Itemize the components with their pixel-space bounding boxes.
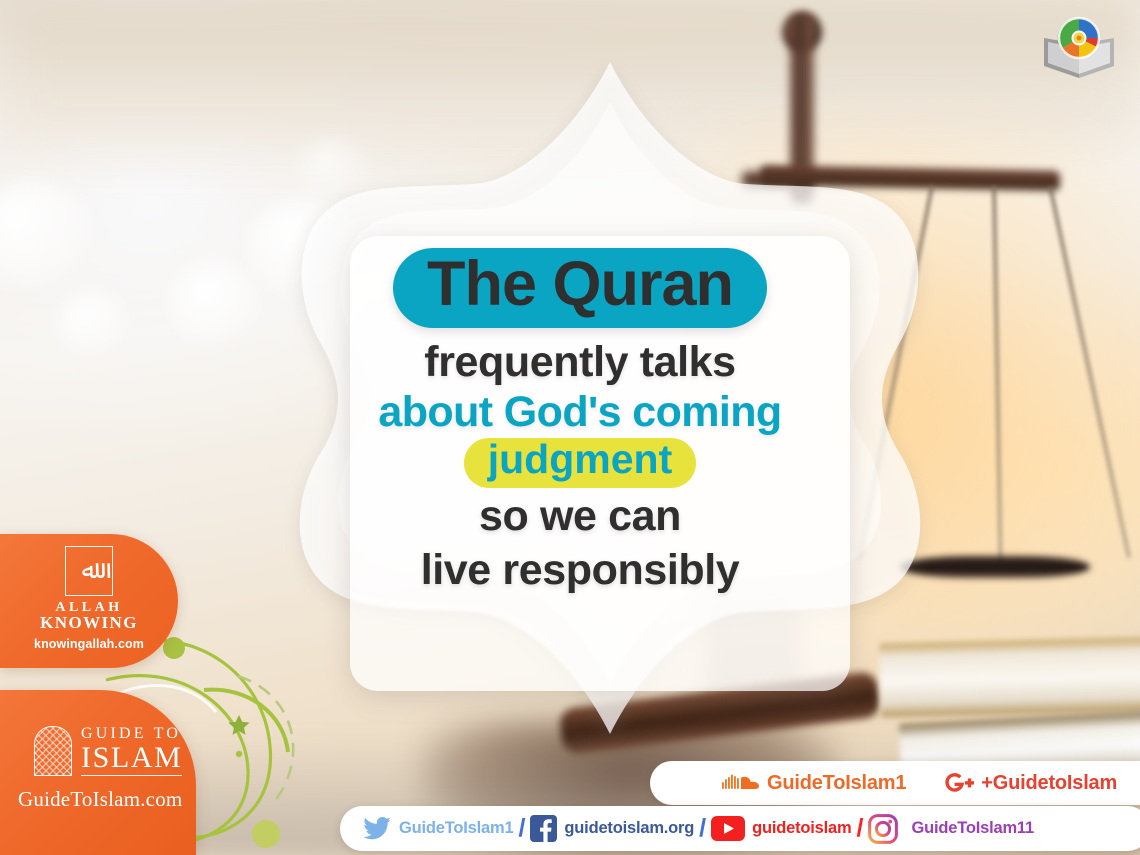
social-separator: / bbox=[856, 816, 863, 841]
knowing-allah-word-main: KNOWING bbox=[0, 613, 178, 633]
poster-canvas: The Quran frequently talks about God's c… bbox=[0, 0, 1140, 855]
google-plus-label: +GuidetoIslam bbox=[981, 772, 1117, 795]
soundcloud-bar: GuideToIslam1 +GuidetoIslam bbox=[650, 761, 1140, 805]
facebook-icon bbox=[530, 815, 557, 842]
guide-to-islam-lockup: GUIDE TO ISLAM bbox=[34, 726, 196, 776]
guide-to-islam-url: GuideToIslam.com bbox=[18, 787, 196, 812]
knowing-allah-url: knowingallah.com bbox=[0, 637, 178, 651]
twitter-link[interactable]: GuideToIslam1 bbox=[362, 816, 513, 841]
swirl-dot bbox=[252, 820, 280, 848]
social-bar: GuideToIslam1 / guidetoislam.org / guide… bbox=[340, 806, 1140, 851]
quote-headline-pill: The Quran bbox=[393, 248, 767, 328]
twitter-label: GuideToIslam1 bbox=[399, 819, 513, 838]
youtube-link[interactable]: guidetoislam bbox=[711, 816, 851, 841]
instagram-label: GuideToIslam11 bbox=[911, 819, 1034, 838]
bokeh-light bbox=[170, 262, 262, 344]
quote-block: The Quran frequently talks about God's c… bbox=[300, 248, 860, 593]
social-separator: / bbox=[518, 816, 525, 841]
quote-highlight-pill: judgment bbox=[464, 438, 696, 488]
twitter-icon bbox=[362, 816, 392, 841]
google-plus-icon bbox=[942, 770, 974, 796]
knowing-allah-badge-content: ﷲ ALLAH KNOWING knowingallah.com bbox=[0, 534, 178, 668]
bokeh-light bbox=[58, 292, 128, 354]
knowing-allah-badge[interactable]: ﷲ ALLAH KNOWING knowingallah.com bbox=[0, 534, 178, 668]
instagram-icon bbox=[868, 814, 898, 844]
guide-to-islam-badge[interactable]: GUIDE TO ISLAM GuideToIslam.com bbox=[0, 690, 196, 855]
guide-to-islam-word-top: GUIDE TO bbox=[81, 726, 182, 742]
allah-calligraphy-icon: ﷲ bbox=[65, 546, 113, 596]
youtube-icon bbox=[711, 816, 745, 841]
instagram-link[interactable]: GuideToIslam11 bbox=[868, 814, 1034, 844]
quote-line-4-wrap: judgment bbox=[300, 435, 860, 488]
google-plus-link[interactable]: +GuidetoIslam bbox=[942, 770, 1117, 796]
facebook-link[interactable]: guidetoislam.org bbox=[530, 815, 694, 842]
quote-line-6: live responsibly bbox=[300, 549, 860, 593]
social-separator: / bbox=[699, 816, 706, 841]
quote-line-2: frequently talks bbox=[300, 341, 860, 385]
guide-to-islam-badge-content: GUIDE TO ISLAM GuideToIslam.com bbox=[0, 690, 196, 855]
facebook-label: guidetoislam.org bbox=[564, 819, 694, 838]
guide-to-islam-wordmark: GUIDE TO ISLAM bbox=[81, 726, 182, 776]
quote-line-1-wrap: The Quran bbox=[300, 248, 860, 328]
soundcloud-link[interactable]: GuideToIslam1 bbox=[722, 772, 906, 795]
mosque-arch-icon bbox=[34, 726, 72, 776]
quote-line-3: about God's coming bbox=[300, 391, 860, 435]
globe-book-logo-icon bbox=[1036, 14, 1122, 82]
youtube-label: guidetoislam bbox=[752, 819, 851, 838]
quote-line-5: so we can bbox=[300, 495, 860, 539]
soundcloud-icon bbox=[722, 773, 760, 793]
soundcloud-label: GuideToIslam1 bbox=[767, 772, 906, 795]
guide-to-islam-word-main: ISLAM bbox=[81, 743, 182, 776]
swirl-dot bbox=[236, 751, 242, 757]
